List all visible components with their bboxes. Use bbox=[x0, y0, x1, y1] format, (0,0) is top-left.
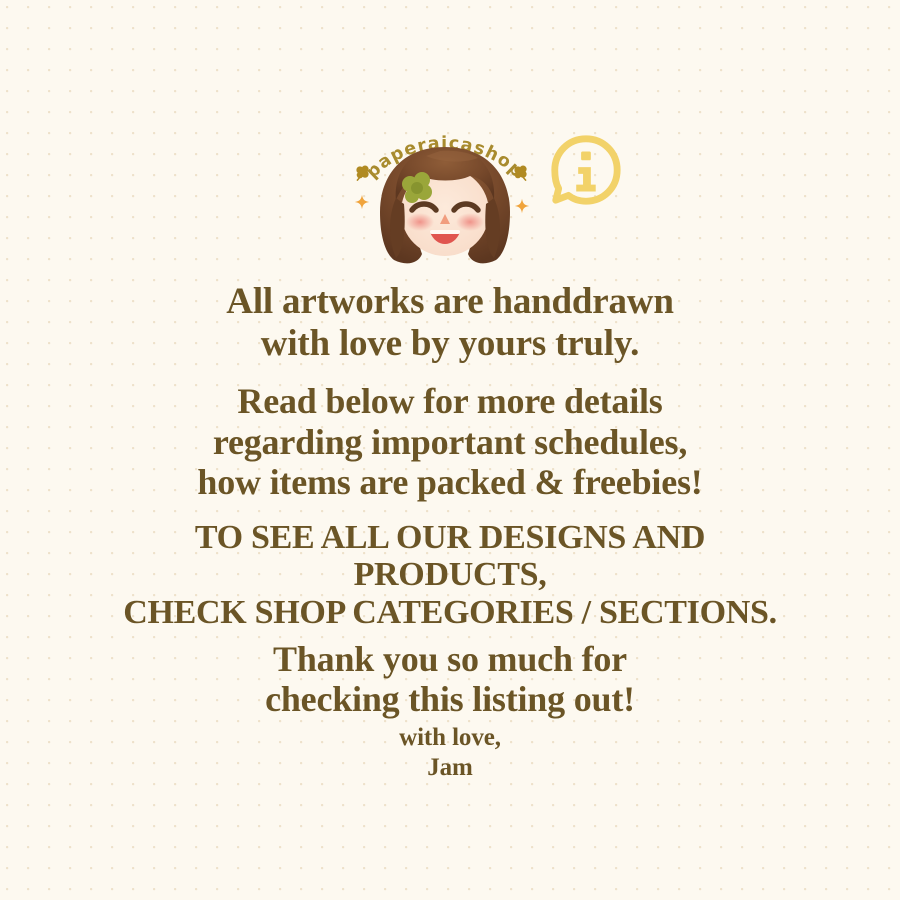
paragraph-line: Thank you so much for bbox=[0, 639, 900, 679]
paragraph-line: regarding important schedules, bbox=[0, 422, 900, 463]
headline-handdrawn: All artworks are handdrawn with love by … bbox=[0, 281, 900, 365]
paragraph-thank-you: Thank you so much for checking this list… bbox=[0, 639, 900, 720]
info-speech-bubble-icon bbox=[546, 132, 624, 210]
avatar-blush-left bbox=[406, 213, 434, 231]
paragraph-line: PRODUCTS, bbox=[0, 556, 900, 593]
headline-line: All artworks are handdrawn bbox=[0, 281, 900, 323]
signature-line: with love, bbox=[0, 723, 900, 753]
avatar-blush-right bbox=[456, 213, 484, 231]
signature: with love, Jam bbox=[0, 723, 900, 782]
smiling-girl-avatar bbox=[366, 142, 524, 270]
paragraph-read-below: Read below for more details regarding im… bbox=[0, 381, 900, 503]
paragraph-line: Read below for more details bbox=[0, 381, 900, 422]
paragraph-line: TO SEE ALL OUR DESIGNS AND bbox=[0, 519, 900, 556]
info-card: paperaicashop bbox=[0, 0, 900, 900]
paragraph-line: checking this listing out! bbox=[0, 679, 900, 719]
brand-header: paperaicashop bbox=[0, 116, 900, 276]
paragraph-line: how items are packed & freebies! bbox=[0, 462, 900, 503]
signature-name: Jam bbox=[0, 753, 900, 783]
paragraph-shop-categories: TO SEE ALL OUR DESIGNS AND PRODUCTS, CHE… bbox=[0, 519, 900, 631]
headline-line: with love by yours truly. bbox=[0, 323, 900, 365]
paragraph-line: CHECK SHOP CATEGORIES / SECTIONS. bbox=[0, 594, 900, 631]
brand-logo: paperaicashop bbox=[352, 116, 538, 276]
